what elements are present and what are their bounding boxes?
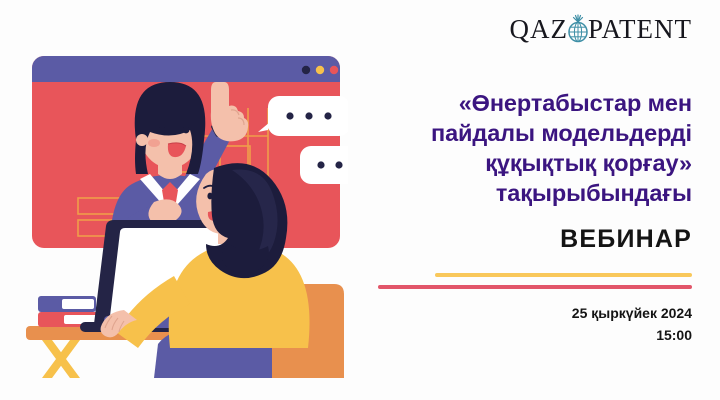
speech-bubble-2 [300, 146, 348, 184]
webinar-title: «Өнертабыстар мен пайдалы модельдерді құ… [362, 88, 692, 208]
divider-yellow [435, 273, 692, 277]
title-line-2: пайдалы модельдерді [362, 118, 692, 148]
speech-bubble-1 [258, 96, 348, 136]
logo-text-qaz: QAZ [509, 16, 568, 43]
title-line-4: тақырыбындағы [362, 178, 692, 208]
title-line-1: «Өнертабыстар мен [362, 88, 692, 118]
divider-red [378, 285, 692, 289]
globe-patent-emblem-icon [565, 14, 591, 44]
logo-text-patent: PATENT [588, 16, 692, 43]
event-type-label: ВЕБИНАР [560, 225, 692, 254]
webinar-illustration [18, 48, 348, 378]
event-date: 25 қыркүйек 2024 [572, 305, 692, 321]
qazpatent-logo: QAZ [509, 12, 692, 46]
event-time: 15:00 [656, 327, 692, 343]
title-line-3: құқықтық қорғау» [362, 148, 692, 178]
poster-canvas: QAZ [0, 0, 720, 400]
